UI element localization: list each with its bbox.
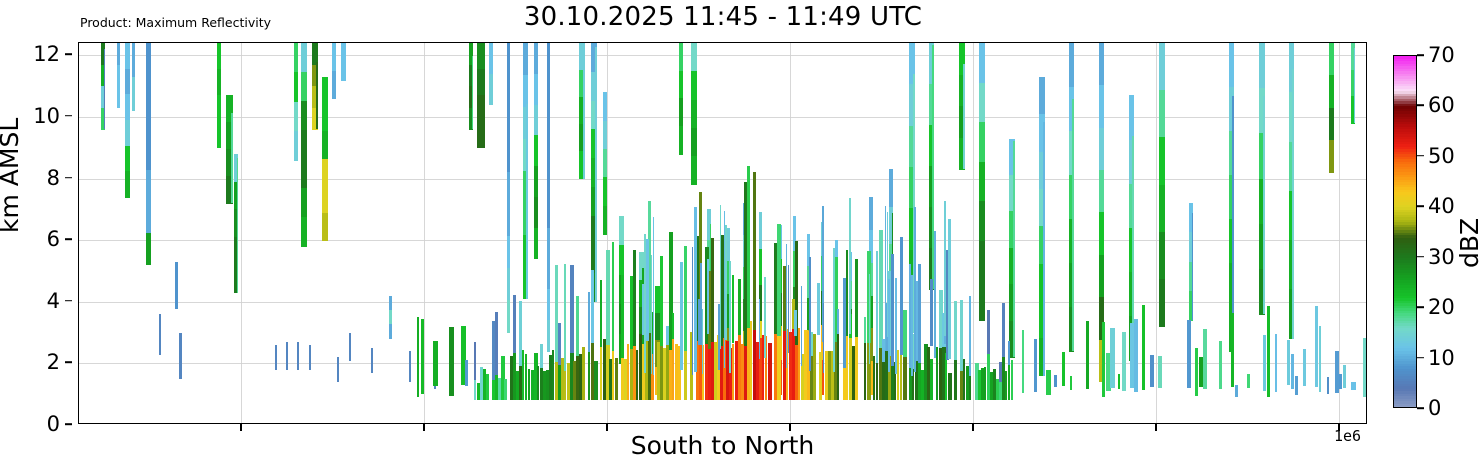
reflectivity-cell	[798, 328, 800, 401]
reflectivity-cell	[504, 379, 507, 400]
reflectivity-cell	[684, 246, 687, 351]
reflectivity-cell	[987, 310, 990, 355]
reflectivity-cell	[409, 351, 411, 367]
y-tick-label: 2	[47, 350, 60, 374]
reflectivity-cell	[813, 334, 816, 400]
reflectivity-cell	[417, 317, 419, 397]
reflectivity-cell	[984, 367, 986, 400]
reflectivity-cell	[231, 113, 233, 203]
reflectivity-cell	[125, 43, 130, 69]
reflectivity-cell	[1054, 375, 1057, 387]
reflectivity-cell	[903, 310, 907, 357]
reflectivity-cell	[600, 280, 602, 347]
reflectivity-cell	[876, 363, 878, 400]
reflectivity-cell	[1159, 90, 1165, 138]
reflectivity-cell	[595, 47, 597, 302]
reflectivity-cell	[979, 201, 985, 241]
reflectivity-cell	[217, 122, 221, 149]
reflectivity-cell	[876, 251, 878, 363]
reflectivity-cell	[725, 225, 727, 340]
reflectivity-cell	[1011, 360, 1013, 400]
reflectivity-cell	[1110, 328, 1115, 388]
reflectivity-cell	[349, 346, 351, 360]
reflectivity-cell	[1303, 349, 1306, 386]
y-tick-mark	[65, 54, 72, 56]
reflectivity-cell	[582, 347, 585, 400]
radar-cross-section-figure: Product: Maximum Reflectivity 30.10.2025…	[0, 0, 1482, 470]
y-tick-mark	[65, 238, 72, 240]
reflectivity-cell	[337, 370, 339, 383]
reflectivity-cell	[564, 371, 566, 400]
reflectivity-cell	[322, 104, 328, 132]
colorbar	[1393, 55, 1417, 408]
reflectivity-cell	[948, 373, 952, 400]
reflectivity-cell	[846, 336, 848, 400]
reflectivity-cell	[691, 43, 697, 72]
reflectivity-cell	[1072, 99, 1074, 351]
reflectivity-cell	[146, 43, 151, 75]
reflectivity-cell	[537, 366, 539, 400]
y-tick-label: 12	[33, 42, 60, 66]
reflectivity-cell	[341, 43, 346, 62]
reflectivity-cell	[759, 249, 762, 286]
reflectivity-cell	[837, 334, 839, 400]
reflectivity-cell	[672, 339, 674, 401]
reflectivity-cell	[465, 360, 468, 385]
reflectivity-cell	[507, 140, 510, 173]
reflectivity-cell	[570, 265, 574, 353]
reflectivity-cell	[1327, 377, 1329, 394]
reflectivity-cell	[322, 213, 328, 241]
reflectivity-cell	[1034, 339, 1037, 393]
reflectivity-cell	[564, 264, 566, 370]
reflectivity-cell	[1247, 374, 1250, 388]
reflectivity-cell	[837, 309, 839, 334]
reflectivity-cell	[979, 162, 985, 202]
reflectivity-cell	[534, 43, 538, 74]
reflectivity-cell	[612, 242, 614, 351]
plot-area	[78, 42, 1367, 424]
reflectivity-cell	[603, 177, 607, 206]
reflectivity-cell	[1069, 43, 1074, 88]
reflectivity-cell	[1008, 341, 1010, 365]
reflectivity-cell	[1187, 320, 1191, 388]
reflectivity-cell	[1062, 352, 1065, 386]
reflectivity-cell	[855, 337, 858, 400]
reflectivity-cell	[322, 77, 328, 105]
reflectivity-cell	[660, 256, 663, 346]
reflectivity-cell	[534, 135, 538, 166]
reflectivity-cell	[918, 264, 921, 363]
reflectivity-cell	[1008, 365, 1010, 400]
reflectivity-cell	[777, 336, 781, 400]
reflectivity-cell	[332, 43, 336, 71]
x-axis-offset-label: 1e6	[1334, 427, 1361, 445]
reflectivity-cell	[522, 350, 524, 400]
reflectivity-cell	[644, 234, 646, 373]
reflectivity-cell	[1259, 43, 1265, 89]
reflectivity-cell	[764, 277, 766, 359]
reflectivity-cell	[117, 65, 120, 87]
reflectivity-cell	[507, 268, 510, 301]
reflectivity-cell	[1159, 279, 1165, 327]
reflectivity-cell	[507, 43, 510, 76]
reflectivity-cell	[528, 369, 530, 400]
reflectivity-cell	[684, 351, 687, 400]
y-tick-mark	[65, 115, 72, 117]
reflectivity-cell	[1150, 355, 1154, 386]
reflectivity-cell	[217, 43, 221, 70]
colorbar-tick-label: 0	[1428, 396, 1441, 420]
reflectivity-cell	[1329, 108, 1334, 141]
colorbar-tick-mark	[1417, 256, 1424, 258]
reflectivity-cell	[732, 344, 734, 401]
reflectivity-cell	[636, 350, 638, 400]
colorbar-tick-mark	[1417, 206, 1424, 208]
reflectivity-cell	[301, 101, 307, 131]
reflectivity-cell	[125, 69, 130, 95]
reflectivity-cell	[979, 83, 985, 123]
reflectivity-cell	[724, 211, 725, 367]
reflectivity-cell	[322, 131, 328, 159]
reflectivity-cell	[963, 359, 965, 401]
reflectivity-cell	[591, 270, 594, 343]
reflectivity-cell	[1043, 122, 1045, 376]
reflectivity-cell	[477, 43, 485, 70]
colorbar-tick-label: 10	[1428, 346, 1455, 370]
colorbar-segment	[1394, 406, 1416, 408]
reflectivity-cell	[316, 62, 318, 129]
reflectivity-cell	[275, 357, 277, 370]
reflectivity-cell	[217, 95, 221, 122]
y-tick-label: 10	[33, 104, 60, 128]
reflectivity-cell	[759, 212, 762, 249]
reflectivity-cell	[1229, 43, 1234, 88]
reflectivity-cell	[1219, 341, 1222, 389]
reflectivity-cell	[146, 233, 151, 265]
reflectivity-cell	[371, 360, 373, 373]
page-title: 30.10.2025 11:45 - 11:49 UTC	[78, 2, 1368, 32]
reflectivity-cell	[297, 342, 299, 356]
reflectivity-cell	[1291, 354, 1294, 389]
reflectivity-cell	[619, 245, 624, 275]
reflectivity-cell	[1192, 213, 1193, 321]
reflectivity-cell	[911, 275, 913, 375]
reflectivity-cell	[552, 350, 554, 400]
reflectivity-cell	[179, 333, 182, 357]
reflectivity-cell	[146, 170, 151, 202]
reflectivity-cell	[125, 171, 130, 197]
reflectivity-cell	[612, 351, 614, 400]
reflectivity-cell	[322, 186, 328, 214]
reflectivity-cell	[1039, 77, 1045, 115]
reflectivity-cell	[855, 259, 858, 337]
reflectivity-cell	[753, 172, 756, 329]
reflectivity-cell	[679, 126, 683, 154]
colorbar-tick-mark	[1417, 105, 1424, 107]
reflectivity-cell	[788, 265, 789, 353]
reflectivity-cell	[930, 279, 933, 346]
colorbar-label: dBZ	[1455, 218, 1482, 268]
reflectivity-cell	[801, 286, 802, 366]
y-axis-label: km AMSL	[0, 118, 24, 233]
reflectivity-cell	[1343, 365, 1346, 388]
reflectivity-cell	[1351, 382, 1356, 390]
y-tick-label: 6	[47, 227, 60, 251]
reflectivity-cell	[869, 197, 873, 230]
reflectivity-cell	[603, 149, 607, 178]
reflectivity-cell	[294, 72, 298, 102]
reflectivity-cell	[900, 237, 903, 354]
colorbar-tick-mark	[1417, 54, 1424, 56]
reflectivity-cell	[409, 366, 411, 382]
reflectivity-cell	[547, 259, 550, 290]
reflectivity-cell	[1159, 232, 1165, 280]
colorbar-tick-label: 70	[1428, 43, 1455, 67]
reflectivity-cell	[979, 281, 985, 321]
reflectivity-cell	[702, 309, 703, 374]
reflectivity-cell	[603, 121, 607, 150]
reflectivity-cell	[888, 279, 890, 372]
reflectivity-cell	[547, 289, 550, 320]
reflectivity-cell	[1363, 338, 1366, 397]
reflectivity-cell	[117, 43, 120, 65]
x-axis-label: South to North	[78, 431, 1367, 460]
reflectivity-cell	[301, 43, 307, 73]
reflectivity-cell	[1263, 335, 1266, 390]
x-tick-mark	[240, 424, 242, 431]
reflectivity-cell	[132, 77, 135, 111]
reflectivity-cell	[786, 244, 787, 368]
reflectivity-cell	[969, 376, 971, 400]
reflectivity-cell	[477, 69, 485, 96]
reflectivity-cell	[286, 356, 288, 370]
reflectivity-cell	[653, 217, 654, 375]
reflectivity-cell	[691, 128, 697, 157]
reflectivity-cell	[389, 310, 392, 325]
reflectivity-cell	[297, 356, 299, 370]
reflectivity-cell	[547, 228, 550, 259]
reflectivity-cell	[117, 86, 120, 108]
reflectivity-cell	[680, 262, 683, 370]
reflectivity-cell	[1102, 322, 1105, 397]
reflectivity-cell	[179, 356, 182, 380]
reflectivity-cell	[1002, 303, 1005, 357]
reflectivity-cell	[945, 353, 947, 400]
reflectivity-cell	[727, 228, 730, 262]
reflectivity-cell	[1099, 43, 1104, 86]
colorbar-tick-label: 60	[1428, 93, 1455, 117]
reflectivity-cell	[474, 380, 476, 400]
colorbar-gradient	[1393, 55, 1417, 408]
reflectivity-cell	[576, 296, 579, 356]
reflectivity-cell	[525, 354, 527, 400]
reflectivity-cell	[1329, 140, 1334, 173]
colorbar-tick-mark	[1417, 357, 1424, 359]
reflectivity-cell	[371, 348, 373, 361]
reflectivity-cell	[1195, 348, 1198, 396]
reflectivity-cell	[948, 219, 951, 359]
reflectivity-cell	[1022, 330, 1024, 394]
reflectivity-cell	[777, 224, 781, 337]
reflectivity-cell	[646, 239, 649, 341]
reflectivity-cell	[954, 360, 957, 401]
reflectivity-cell	[707, 259, 709, 334]
reflectivity-cell	[547, 43, 550, 74]
reflectivity-cell	[523, 43, 528, 76]
reflectivity-cell	[873, 356, 875, 400]
reflectivity-cell	[125, 120, 130, 146]
reflectivity-cell	[534, 105, 538, 136]
reflectivity-cell	[1329, 75, 1334, 108]
reflectivity-cell	[449, 327, 454, 396]
reflectivity-cell	[1005, 371, 1007, 400]
reflectivity-cell	[534, 74, 538, 105]
reflectivity-cell	[301, 217, 307, 247]
reflectivity-cell	[489, 43, 493, 74]
reflectivity-cell	[507, 236, 510, 269]
reflectivity-cell	[679, 98, 683, 126]
reflectivity-cell	[540, 344, 543, 367]
reflectivity-cell	[1339, 374, 1342, 389]
colorbar-tick-label: 30	[1428, 245, 1455, 269]
reflectivity-cell	[711, 238, 714, 342]
reflectivity-cell	[472, 56, 473, 130]
reflectivity-cell	[897, 350, 899, 400]
reflectivity-cell	[963, 64, 965, 169]
reflectivity-cell	[846, 250, 848, 336]
reflectivity-cell	[159, 314, 161, 335]
reflectivity-cell	[588, 352, 590, 401]
reflectivity-cell	[900, 349, 902, 400]
reflectivity-cell	[322, 159, 328, 187]
reflectivity-cell	[895, 278, 897, 373]
reflectivity-cell	[768, 343, 772, 401]
reflectivity-cell	[1287, 340, 1290, 386]
reflectivity-cell	[679, 71, 683, 99]
reflectivity-cell	[547, 105, 550, 136]
reflectivity-cell	[547, 197, 550, 228]
reflectivity-cell	[879, 230, 883, 347]
reflectivity-cell	[615, 358, 618, 401]
x-tick-mark	[423, 424, 425, 431]
reflectivity-cell	[1263, 96, 1265, 315]
reflectivity-cell	[1329, 43, 1334, 76]
reflectivity-cell	[349, 333, 351, 347]
reflectivity-cell	[507, 172, 510, 205]
x-tick-mark	[606, 424, 608, 431]
reflectivity-cell	[621, 275, 624, 358]
reflectivity-cell	[146, 138, 151, 170]
reflectivity-cell	[534, 197, 538, 228]
reflectivity-cell	[1292, 69, 1294, 339]
reflectivity-cell	[606, 250, 610, 345]
reflectivity-cell	[1295, 376, 1298, 395]
reflectivity-cell	[1013, 141, 1015, 357]
colorbar-tick-mark	[1417, 155, 1424, 157]
reflectivity-cell	[691, 156, 697, 185]
reflectivity-cell	[747, 166, 750, 329]
reflectivity-cell	[819, 352, 822, 400]
reflectivity-cell	[294, 102, 298, 132]
reflectivity-cell	[869, 274, 870, 364]
reflectivity-cell	[477, 95, 485, 122]
reflectivity-cell	[583, 45, 585, 179]
reflectivity-cell	[885, 206, 886, 350]
reflectivity-cell	[633, 250, 636, 346]
reflectivity-cell	[513, 295, 516, 353]
reflectivity-cell	[1086, 321, 1089, 389]
reflectivity-cell	[294, 131, 298, 161]
reflectivity-cell	[433, 341, 438, 386]
reflectivity-cell	[1158, 356, 1162, 388]
y-tick-mark	[65, 300, 72, 302]
reflectivity-cell	[125, 94, 130, 120]
reflectivity-cell	[507, 75, 510, 108]
reflectivity-cell	[750, 321, 752, 401]
reflectivity-cell	[507, 300, 510, 333]
y-tick-mark	[65, 423, 72, 425]
reflectivity-cell	[495, 312, 498, 375]
reflectivity-cell	[969, 296, 971, 377]
reflectivity-cell	[729, 261, 731, 373]
reflectivity-cell	[1099, 170, 1104, 213]
colorbar-tick-label: 20	[1428, 295, 1455, 319]
y-axis-ticks: 024681012	[0, 42, 72, 424]
reflectivity-cell	[175, 262, 178, 286]
reflectivity-cell	[720, 205, 721, 348]
reflectivity-cell	[159, 334, 161, 355]
reflectivity-cell	[849, 198, 851, 334]
reflectivity-cell	[421, 319, 424, 394]
colorbar-tick-label: 50	[1428, 144, 1455, 168]
reflectivity-cell	[507, 204, 510, 237]
colorbar-tick-mark	[1417, 306, 1424, 308]
reflectivity-cell	[732, 275, 734, 343]
reflectivity-cell	[301, 72, 307, 102]
reflectivity-cell	[534, 228, 538, 259]
reflectivity-cell	[954, 301, 957, 360]
reflectivity-cell	[672, 313, 674, 339]
reflectivity-cell	[547, 166, 550, 197]
reflectivity-cell	[309, 357, 311, 370]
reflectivity-cell	[809, 257, 811, 372]
colorbar-tick-mark	[1417, 407, 1424, 409]
reflectivity-cell	[1099, 85, 1104, 128]
x-tick-mark	[972, 424, 974, 431]
colorbar-tick-label: 40	[1428, 194, 1455, 218]
reflectivity-cell	[237, 158, 238, 292]
reflectivity-cell	[1319, 326, 1321, 392]
reflectivity-cell	[1099, 128, 1104, 171]
y-tick-label: 8	[47, 166, 60, 190]
reflectivity-cell	[979, 122, 985, 162]
reflectivity-cell	[1203, 329, 1207, 389]
reflectivity-cell	[817, 283, 820, 335]
reflectivity-cell	[864, 317, 866, 343]
reflectivity-cell	[692, 247, 693, 375]
reflectivity-cell	[547, 74, 550, 105]
reflectivity-cell	[477, 122, 485, 149]
reflectivity-cell	[1118, 374, 1120, 388]
reflectivity-cell	[275, 345, 277, 358]
reflectivity-cell	[1070, 376, 1072, 390]
x-tick-mark	[789, 424, 791, 431]
reflectivity-cell	[1231, 313, 1234, 388]
reflectivity-data	[79, 43, 1366, 423]
reflectivity-cell	[864, 343, 866, 400]
y-tick-mark	[65, 362, 72, 364]
